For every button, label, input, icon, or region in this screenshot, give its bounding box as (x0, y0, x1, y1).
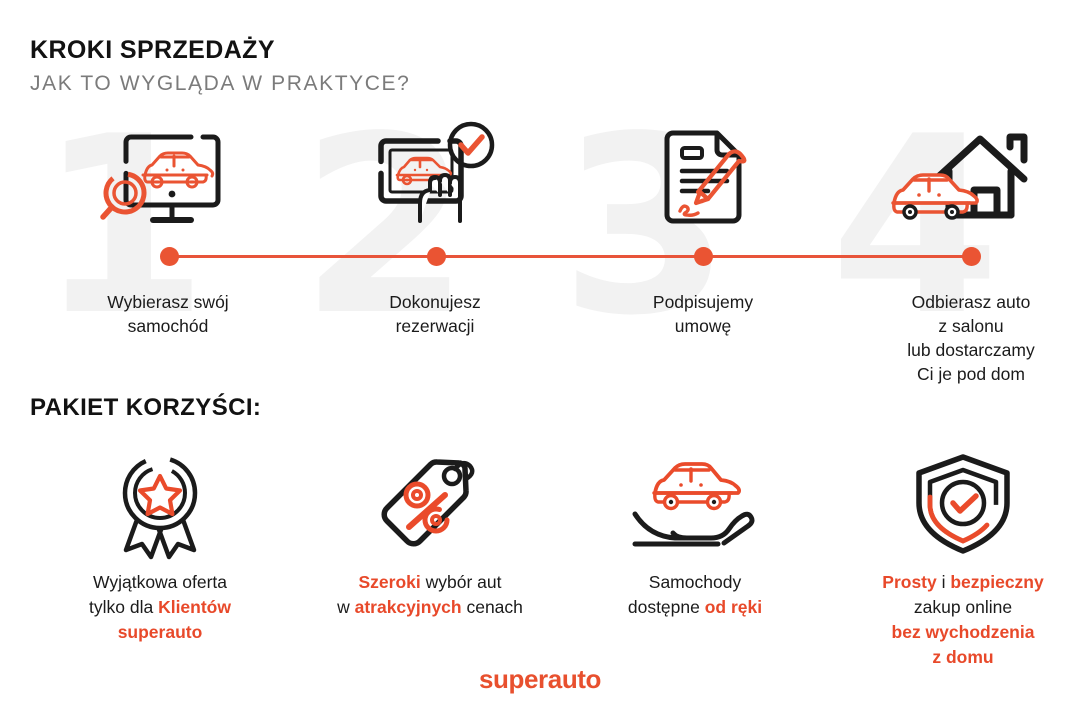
hand-holding-car-icon (570, 446, 820, 556)
award-badge-star-icon (35, 446, 285, 556)
step-item-4: Odbierasz auto z salonu lub dostarczamy … (846, 118, 1080, 386)
step-item-2: Dokonujesz rezerwacji (310, 118, 560, 338)
benefit-caption-1: Wyjątkowa oferta tylko dla Klientów supe… (35, 570, 285, 645)
monitor-with-car-and-magnifier-icon (43, 118, 293, 238)
document-with-pen-signature-icon (578, 118, 828, 238)
shield-check-icon (838, 446, 1080, 556)
tablet-with-hand-tap-and-check-icon (310, 118, 560, 238)
step-caption-2: Dokonujesz rezerwacji (310, 290, 560, 338)
step-item-3: Podpisujemy umowę (578, 118, 828, 338)
step-caption-1: Wybierasz swój samochód (43, 290, 293, 338)
step-caption-4: Odbierasz auto z salonu lub dostarczamy … (846, 290, 1080, 386)
benefit-caption-4: Prosty i bezpieczny zakup online bez wyc… (838, 570, 1080, 670)
house-with-car-icon (846, 118, 1080, 238)
infographic-page: KROKI SPRZEDAŻY JAK TO WYGLĄDA W PRAKTYC… (0, 0, 1080, 720)
superauto-logo: superauto (0, 664, 1080, 695)
step-item-1: Wybierasz swój samochód (43, 118, 293, 338)
benefit-item-3: Samochody dostępne od ręki (570, 446, 820, 620)
benefit-item-1: Wyjątkowa oferta tylko dla Klientów supe… (35, 446, 285, 645)
step-caption-3: Podpisujemy umowę (578, 290, 828, 338)
benefits-title: PAKIET KORZYŚCI: (30, 394, 261, 422)
benefit-item-2: Szeroki wybór aut w atrakcyjnych cenach (305, 446, 555, 620)
benefit-caption-2: Szeroki wybór aut w atrakcyjnych cenach (305, 570, 555, 620)
price-tag-percent-icon (305, 446, 555, 556)
benefit-caption-3: Samochody dostępne od ręki (570, 570, 820, 620)
benefit-item-4: Prosty i bezpieczny zakup online bez wyc… (838, 446, 1080, 670)
page-title: KROKI SPRZEDAŻY (30, 36, 275, 65)
